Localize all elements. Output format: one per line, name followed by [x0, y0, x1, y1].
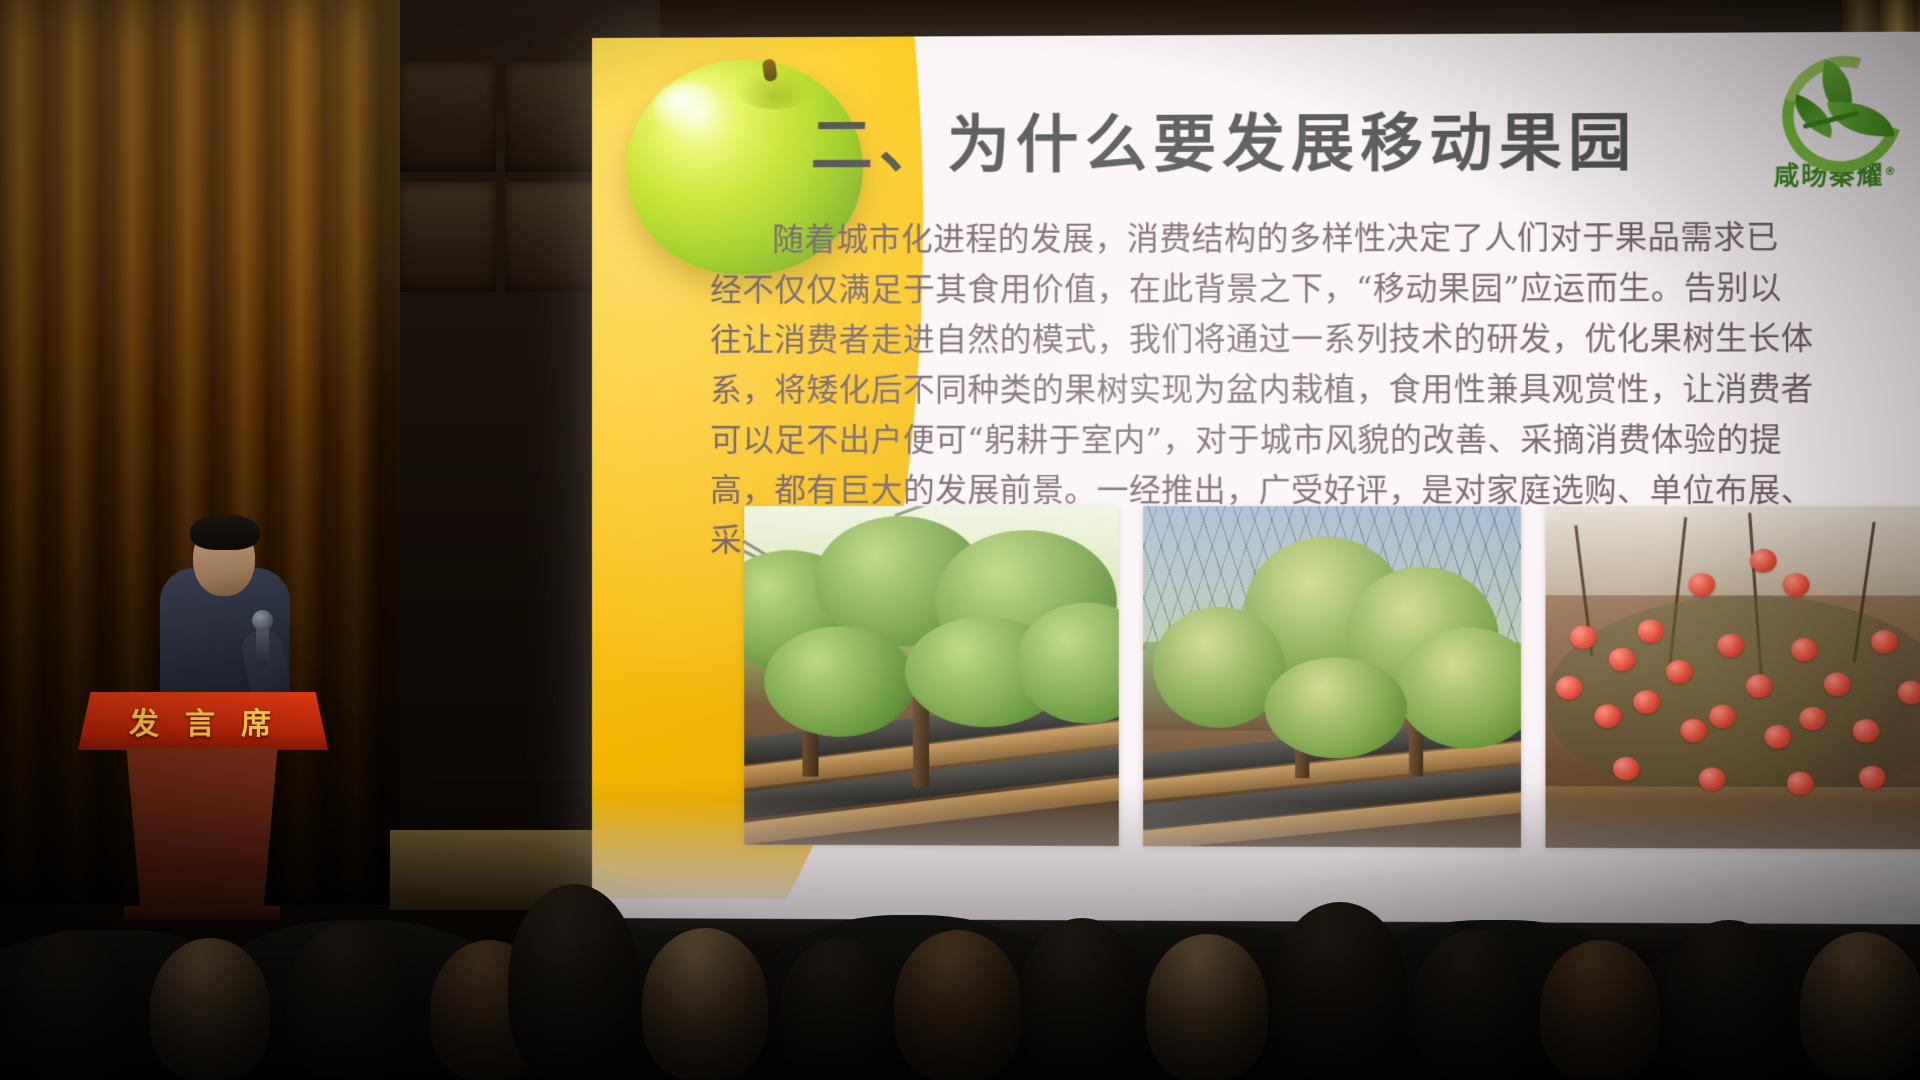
screen-bottom-fade: [592, 798, 1920, 924]
apple-fruit: [1680, 719, 1707, 742]
apple-fruit: [1898, 681, 1920, 704]
wall-panel: [505, 62, 603, 172]
slide-photo-row: 温室内绿色果树种植行 遮阳网温室果: [744, 506, 1920, 849]
speaker-podium-group: 发 言 席: [60, 520, 390, 920]
apple-fruit: [1746, 674, 1773, 697]
apple-fruit: [1783, 573, 1810, 596]
slide-title: 二、为什么要发展移动果园: [810, 111, 1784, 177]
apple-fruit: [1859, 766, 1886, 789]
tree-foliage: [764, 626, 915, 737]
apple-fruit: [1570, 626, 1597, 649]
apple-fruit: [1637, 620, 1664, 643]
podium-sign-char: 言: [185, 699, 221, 743]
wall-panel: [398, 62, 496, 172]
apple-fruit: [1689, 573, 1716, 596]
apple-fruit: [1824, 673, 1851, 696]
apple-fruit: [1791, 638, 1818, 661]
apple-fruit: [1556, 676, 1583, 699]
apple-fruit: [1799, 707, 1826, 730]
podium-header-panel: 发 言 席: [78, 692, 328, 750]
wall-panel: [398, 182, 496, 292]
apple-fruit: [1871, 630, 1898, 653]
podium-base: [124, 906, 280, 920]
microphone-head-icon: [252, 610, 273, 631]
apple-fruit: [1609, 648, 1636, 671]
tree-foliage: [1265, 657, 1407, 758]
podium-sign-char: 席: [241, 699, 277, 743]
body-line: 往让消费者走进自然的模式，我们将通过一系列技术的研发，优化果树生长体: [710, 314, 1810, 366]
apple-fruit: [1787, 772, 1814, 795]
apple-fruit: [1764, 725, 1791, 748]
apple-fruit: [1633, 690, 1660, 713]
photo-greenhouse-netting-fruit-trees: 遮阳网温室果树栽培: [1143, 506, 1521, 848]
registered-mark: ®: [1884, 164, 1897, 177]
podium-sign-char: 发: [129, 699, 165, 743]
apple-fruit: [1666, 660, 1693, 683]
body-line: 可以足不出户便可“躬耕于室内”，对于城市风貌的改善、采摘消费体验的提: [710, 415, 1810, 466]
body-line: 系，将矮化后不同种类的果树实现为盆内栽植，食用性兼具观赏性，让消费者: [710, 365, 1810, 416]
green-leaf-circle-logo-icon: [1775, 54, 1896, 154]
apple-fruit: [1613, 757, 1640, 780]
podium-body: [112, 748, 292, 913]
photo-red-apple-orchard: 红苹果挂果果园: [1545, 506, 1920, 849]
wall-panel: [505, 182, 603, 292]
auditorium-scene: 二、为什么要发展移动果园 咸旸秦耀® 随着城市化进程的发展，消费结构的多样性决定…: [0, 0, 1920, 1080]
apple-fruit: [1750, 549, 1777, 572]
apple-fruit: [1717, 634, 1744, 657]
fruit-stem: [762, 58, 778, 82]
speaker-hair: [190, 514, 260, 550]
apple-fruit: [1594, 704, 1621, 727]
projection-screen: 二、为什么要发展移动果园 咸旸秦耀® 随着城市化进程的发展，消费结构的多样性决定…: [592, 32, 1920, 925]
apple-fruit: [1709, 705, 1736, 728]
podium-sign-text: 发 言 席: [78, 692, 328, 750]
body-line: 经不仅仅满足于其食用价值，在此背景之下，“移动果园”应运而生。告别以: [710, 263, 1810, 316]
company-logo: 咸旸秦耀®: [1761, 54, 1910, 191]
photo-greenhouse-green-fruit-trees: 温室内绿色果树种植行: [744, 506, 1119, 846]
presentation-slide: 二、为什么要发展移动果园 咸旸秦耀® 随着城市化进程的发展，消费结构的多样性决定…: [592, 32, 1920, 925]
apple-fruit: [1699, 767, 1726, 790]
body-line: 随着城市化进程的发展，消费结构的多样性决定了人们对于果品需求已: [710, 213, 1810, 266]
apple-fruit: [1853, 719, 1880, 742]
